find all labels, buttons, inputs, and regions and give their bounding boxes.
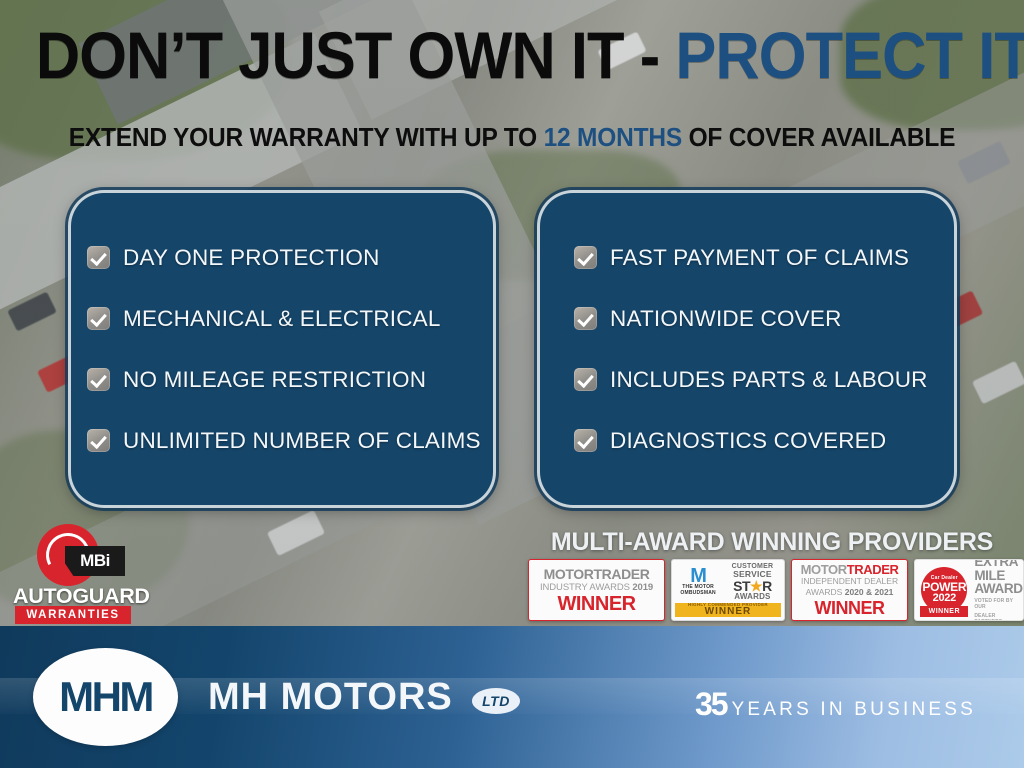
- autoguard-subtitle: WARRANTIES: [26, 609, 119, 621]
- motor-ombudsman-logo: M THE MOTOR OMBUDSMAN: [675, 567, 721, 596]
- feature-label: NATIONWIDE COVER: [610, 306, 842, 332]
- seal-ribbon-text: WINNER: [929, 608, 960, 615]
- years-number: 35: [695, 688, 727, 720]
- extra-mile-line3: AWARD: [974, 582, 1022, 596]
- badge-line2: INDUSTRY AWARDS 2019: [540, 583, 653, 593]
- ltd-badge-text: LTD: [482, 693, 510, 709]
- feature-label: MECHANICAL & ELECTRICAL: [123, 306, 441, 332]
- award-badge-car-dealer-power-extra-mile: Car Dealer POWER 2022 WINNER EXTRA MILE …: [914, 559, 1024, 621]
- badge-line2-text: INDUSTRY AWARDS: [540, 582, 630, 593]
- checkbox-checked-icon: [574, 368, 597, 391]
- extra-mile-line2: MILE: [974, 569, 1022, 583]
- features-panel-left: DAY ONE PROTECTION MECHANICAL & ELECTRIC…: [68, 190, 496, 508]
- feature-item: FAST PAYMENT OF CLAIMS: [540, 245, 954, 271]
- badge-year: 2019: [632, 582, 653, 593]
- autoguard-warranties-logo: MBi AUTOGUARD WARRANTIES: [13, 524, 135, 624]
- feature-label: DAY ONE PROTECTION: [123, 245, 380, 271]
- badge-line3: AWARDS 2020 & 2021: [806, 588, 894, 598]
- years-in-business: 35 YEARS IN BUSINESS: [695, 688, 976, 721]
- ombudsman-mark: M: [675, 567, 721, 585]
- checkbox-checked-icon: [87, 246, 110, 269]
- feature-item: MECHANICAL & ELECTRICAL: [71, 306, 493, 332]
- award-badge-customer-service-star: M THE MOTOR OMBUDSMAN CUSTOMER SERVICE S…: [671, 559, 785, 621]
- feature-item: UNLIMITED NUMBER OF CLAIMS: [71, 428, 493, 454]
- headline-blue-part: PROTECT IT: [675, 18, 1024, 92]
- subheadline-before: EXTEND YOUR WARRANTY WITH UP TO: [69, 124, 544, 152]
- feature-label: INCLUDES PARTS & LABOUR: [610, 367, 928, 393]
- badge-awards: AWARDS: [724, 593, 781, 601]
- checkbox-checked-icon: [574, 246, 597, 269]
- badge-winner: WINNER: [558, 594, 636, 614]
- badge-line2: INDEPENDENT DEALER: [801, 577, 898, 587]
- feature-item: NO MILEAGE RESTRICTION: [71, 367, 493, 393]
- badge-winner: WINNER: [815, 599, 885, 617]
- warranty-promo-banner: DON’T JUST OWN IT - PROTECT IT EXTEND YO…: [0, 0, 1024, 768]
- mbi-mark: MBi: [65, 546, 125, 576]
- headline-black-part: DON’T JUST OWN IT -: [36, 18, 676, 92]
- seal-line2: 2022: [933, 593, 956, 604]
- extra-mile-sub2: DEALER PARTNERS: [974, 613, 1022, 621]
- feature-label: FAST PAYMENT OF CLAIMS: [610, 245, 909, 271]
- badge-line1b: TRADER: [847, 562, 899, 577]
- checkbox-checked-icon: [574, 307, 597, 330]
- badge-line1a: MOTOR: [801, 562, 847, 577]
- feature-item: DAY ONE PROTECTION: [71, 245, 493, 271]
- features-panel-right: FAST PAYMENT OF CLAIMS NATIONWIDE COVER …: [537, 190, 957, 508]
- badge-line1: MOTORTRADER: [544, 567, 650, 581]
- mhm-logo: MHM: [33, 648, 178, 746]
- feature-label: DIAGNOSTICS COVERED: [610, 428, 886, 454]
- headline: DON’T JUST OWN IT - PROTECT IT: [36, 22, 988, 88]
- subheadline-highlight: 12 MONTHS: [544, 124, 682, 152]
- ltd-badge: LTD: [472, 688, 520, 714]
- footer-bar: MHM MH MOTORS LTD 35 YEARS IN BUSINESS: [0, 626, 1024, 768]
- awards-title: MULTI-AWARD WINNING PROVIDERS: [520, 528, 1024, 557]
- award-badge-motortrader-independent-dealer: MOTORTRADER INDEPENDENT DEALER AWARDS 20…: [791, 559, 909, 621]
- checkbox-checked-icon: [574, 429, 597, 452]
- feature-item: NATIONWIDE COVER: [540, 306, 954, 332]
- ribbon-main-text: WINNER: [705, 607, 752, 617]
- badge-winner-ribbon: HIGHLY COMMENDED PROVIDER WINNER: [675, 603, 781, 618]
- mhm-logo-text: MHM: [59, 673, 152, 721]
- badge-line3-pre: AWARDS: [806, 587, 845, 597]
- feature-label: NO MILEAGE RESTRICTION: [123, 367, 426, 393]
- feature-item: DIAGNOSTICS COVERED: [540, 428, 954, 454]
- ombudsman-line2: OMBUDSMAN: [675, 591, 721, 597]
- brand-name: MH MOTORS: [208, 676, 453, 719]
- checkbox-checked-icon: [87, 307, 110, 330]
- subheadline-after: OF COVER AVAILABLE: [682, 124, 955, 152]
- badge-star-line: ST★R: [724, 579, 781, 593]
- feature-item: INCLUDES PARTS & LABOUR: [540, 367, 954, 393]
- subheadline: EXTEND YOUR WARRANTY WITH UP TO 12 MONTH…: [20, 124, 1003, 153]
- feature-label: UNLIMITED NUMBER OF CLAIMS: [123, 428, 481, 454]
- checkbox-checked-icon: [87, 429, 110, 452]
- mbi-mark-label: MBi: [80, 551, 110, 571]
- badge-line1: MOTORTRADER: [801, 563, 899, 576]
- extra-mile-sub1: VOTED FOR BY OUR: [974, 598, 1022, 611]
- autoguard-subtitle-bar: WARRANTIES: [15, 606, 131, 624]
- years-label: YEARS IN BUSINESS: [732, 699, 976, 721]
- checkbox-checked-icon: [87, 368, 110, 391]
- badge-years: 2020 & 2021: [845, 587, 894, 597]
- awards-row: MOTORTRADER INDUSTRY AWARDS 2019 WINNER …: [528, 559, 1024, 621]
- award-badge-motortrader-industry-2019: MOTORTRADER INDUSTRY AWARDS 2019 WINNER: [528, 559, 665, 621]
- seal-winner-ribbon: WINNER: [920, 606, 968, 617]
